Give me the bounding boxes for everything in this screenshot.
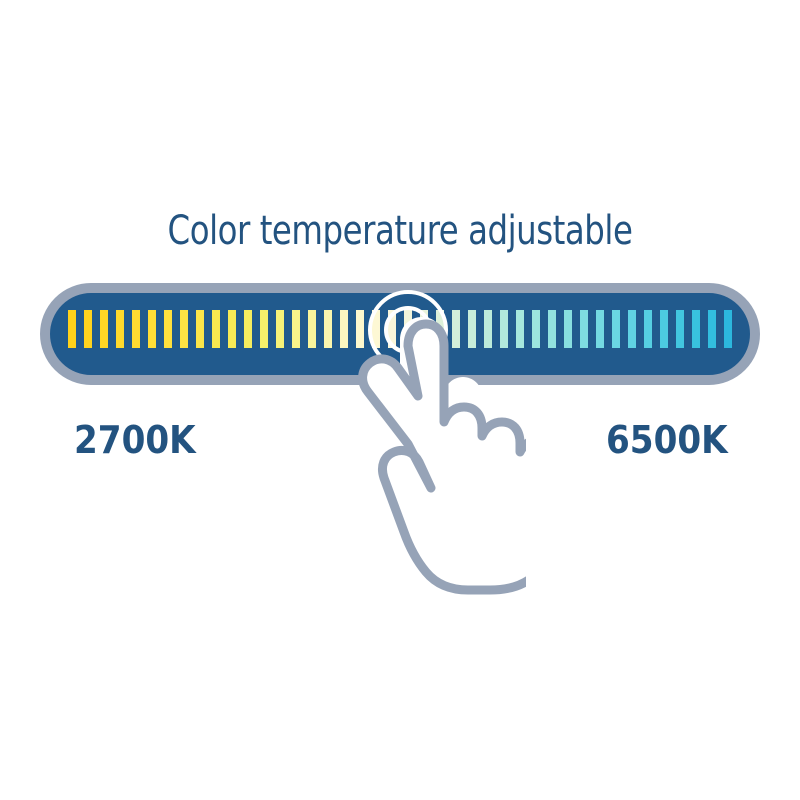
slider-scale-bar (388, 310, 396, 348)
slider-scale-bar (196, 310, 204, 348)
slider-scale-bar (340, 310, 348, 348)
slider-scale-bar (324, 310, 332, 348)
slider-scale-bar (500, 310, 508, 348)
slider-scale-bar (628, 310, 636, 348)
slider-scale-bar (436, 310, 444, 348)
slider-scale-bar (548, 310, 556, 348)
slider-scale-bar (516, 310, 524, 348)
slider-scale-bar (724, 310, 732, 348)
slider-scale-bar (164, 310, 172, 348)
slider-scale-bar (596, 310, 604, 348)
slider-scale-bar (612, 310, 620, 348)
slider-scale-bar (84, 310, 92, 348)
slider-scale-bars (68, 310, 732, 348)
slider-scale-bar (132, 310, 140, 348)
slider-scale-bar (484, 310, 492, 348)
illustration-canvas: Color temperature adjustable 2700K 6500K (0, 0, 800, 800)
slider-scale-bar (420, 310, 428, 348)
slider-scale-bar (468, 310, 476, 348)
slider-scale-bar (228, 310, 236, 348)
slider-scale-bar (356, 310, 364, 348)
slider-scale-bar (660, 310, 668, 348)
slider-scale-bar (532, 310, 540, 348)
slider-max-label: 6500K (606, 418, 728, 462)
slider-scale-bar (404, 310, 412, 348)
slider-scale-bar (100, 310, 108, 348)
slider-scale-bar (68, 310, 76, 348)
slider-min-label: 2700K (74, 418, 196, 462)
slider-scale-bar (244, 310, 252, 348)
slider-scale-bar (292, 310, 300, 348)
slider-scale-bar (372, 310, 380, 348)
slider-scale-bar (276, 310, 284, 348)
page-title: Color temperature adjustable (40, 208, 760, 254)
slider-scale-bar (676, 310, 684, 348)
slider-scale-bar (260, 310, 268, 348)
slider-scale-bar (116, 310, 124, 348)
slider-scale-bar (148, 310, 156, 348)
color-temperature-slider[interactable] (40, 283, 760, 385)
slider-scale-bar (708, 310, 716, 348)
slider-scale-bar (580, 310, 588, 348)
slider-scale-bar (180, 310, 188, 348)
slider-scale-bar (452, 310, 460, 348)
slider-scale-bar (564, 310, 572, 348)
slider-scale-bar (692, 310, 700, 348)
slider-scale-bar (644, 310, 652, 348)
slider-scale-bar (308, 310, 316, 348)
slider-scale-bar (212, 310, 220, 348)
